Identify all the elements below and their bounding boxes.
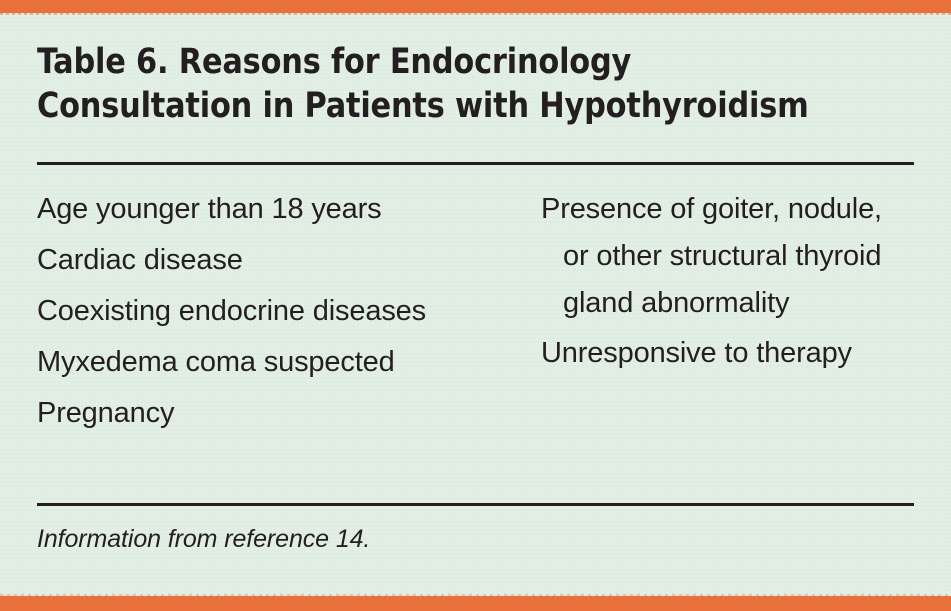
table-figure: Table 6. Reasons for Endocrinology Consu… xyxy=(0,0,951,611)
table-column-left: Age younger than 18 years Cardiac diseas… xyxy=(37,186,541,441)
table-title-line-1: Table 6. Reasons for Endocrinology xyxy=(37,40,896,84)
bottom-accent-bar xyxy=(0,596,951,611)
table-body-columns: Age younger than 18 years Cardiac diseas… xyxy=(37,186,917,441)
header-divider-rule xyxy=(37,162,914,165)
table-column-right: Presence of goiter, nodule, or other str… xyxy=(541,186,917,380)
footer-divider-rule xyxy=(37,503,914,506)
top-accent-bar-dither-edge xyxy=(0,13,951,15)
list-item: Pregnancy xyxy=(37,390,541,437)
list-item: Coexisting endocrine diseases xyxy=(37,288,541,335)
list-item: Myxedema coma suspected xyxy=(37,339,541,386)
list-item: Unresponsive to therapy xyxy=(541,330,883,377)
top-accent-bar xyxy=(0,0,951,13)
list-item: Presence of goiter, nodule, or other str… xyxy=(541,186,883,327)
list-item: Age younger than 18 years xyxy=(37,186,541,233)
list-item: Cardiac disease xyxy=(37,237,541,284)
table-title: Table 6. Reasons for Endocrinology Consu… xyxy=(37,40,896,128)
source-footnote: Information from reference 14. xyxy=(37,525,370,554)
table-title-line-2: Consultation in Patients with Hypothyroi… xyxy=(37,84,896,128)
